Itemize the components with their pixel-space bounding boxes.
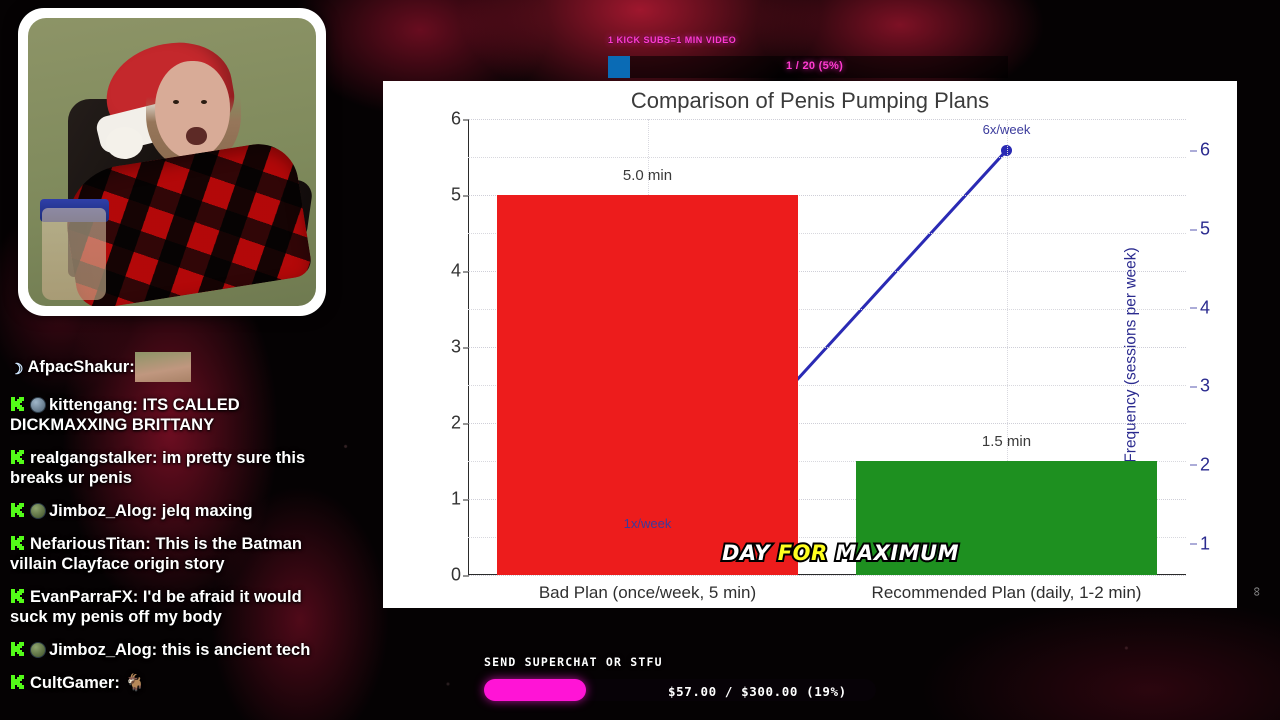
caption-word: FOR	[770, 541, 828, 565]
chat-message: Jimboz_Alog: jelq maxing	[10, 501, 340, 521]
chat-username[interactable]: NefariousTitan:	[30, 535, 151, 553]
eye-right-shape	[201, 100, 207, 104]
chat-message: EvanParraFX: I'd be afraid it would suck…	[10, 587, 340, 627]
kick-badge-icon	[10, 641, 26, 657]
watermark-icon: ∞	[1250, 587, 1265, 596]
santa-hat-pom-shape	[106, 127, 143, 159]
chart-panel: Comparison of Penis Pumping Plans Durati…	[383, 81, 1237, 608]
kick-badge-icon	[10, 535, 26, 551]
chat-message: realgangstalker: im pretty sure this bre…	[10, 448, 340, 488]
chat-text: this is ancient tech	[162, 641, 311, 659]
y-axis-right-tick: 6	[1200, 140, 1210, 161]
y-axis-right-tick: 1	[1200, 533, 1210, 554]
chat-username[interactable]: realgangstalker:	[30, 449, 157, 467]
caption-word: MAXIMUM	[828, 541, 959, 565]
webcam-video	[28, 18, 316, 306]
line-point-label: 1x/week	[624, 516, 672, 531]
sub-goal-progress-fill	[608, 56, 630, 78]
webcam-frame	[18, 8, 326, 316]
chat-username[interactable]: Jimboz_Alog:	[49, 502, 157, 520]
caption-overlay: DAY FOR MAXIMUM	[722, 541, 959, 565]
sub-goal-count: 1 / 20 (5%)	[786, 60, 843, 72]
grid-line	[468, 157, 1186, 158]
chat-username[interactable]: AfpacShakur:	[27, 358, 134, 376]
chat-message: CultGamer: 🐐	[10, 673, 340, 693]
sub-goal-title: 1 KICK SUBS=1 MIN VIDEO	[608, 35, 736, 45]
kick-badge-icon	[10, 588, 26, 604]
chat-username[interactable]: kittengang:	[49, 396, 138, 414]
bar-value-label: 1.5 min	[982, 433, 1031, 450]
superchat-progress-fill	[484, 679, 586, 701]
superchat-goal-title: SEND SUPERCHAT OR STFU	[484, 655, 1104, 669]
y-axis-right-tick: 3	[1200, 376, 1210, 397]
chat-message: kittengang: ITS CALLED DICKMAXXING BRITT…	[10, 395, 340, 435]
caption-word: DAY	[722, 541, 770, 565]
chat-text: jelq maxing	[162, 502, 253, 520]
bar-value-label: 5.0 min	[623, 167, 672, 184]
eye-left-shape	[173, 100, 179, 104]
superchat-goal-widget: SEND SUPERCHAT OR STFU $57.00 / $300.00 …	[484, 655, 1104, 710]
y-axis-right-tick: 4	[1200, 297, 1210, 318]
chat-panel[interactable]: ☽AfpacShakur:kittengang: ITS CALLED DICK…	[10, 352, 340, 712]
kick-badge-icon	[10, 674, 26, 690]
sub-goal-widget: 1 KICK SUBS=1 MIN VIDEO 1 / 20 (5%)	[483, 28, 1103, 80]
line-point-label: 6x/week	[983, 122, 1031, 137]
grid-line	[468, 119, 1186, 120]
y-axis-left-tick: 2	[451, 413, 461, 434]
subscriber-badge-icon	[30, 642, 46, 658]
kick-badge-icon	[10, 396, 26, 412]
grid-line	[468, 575, 1186, 576]
chat-message: ☽AfpacShakur:	[10, 352, 340, 382]
chat-username[interactable]: Jimboz_Alog:	[49, 641, 157, 659]
moon-badge-icon: ☽	[10, 360, 23, 380]
y-axis-left-tick: 0	[451, 565, 461, 586]
kick-badge-icon	[10, 449, 26, 465]
chat-text: 🐐	[124, 674, 145, 692]
chat-message: NefariousTitan: This is the Batman villa…	[10, 534, 340, 574]
y-axis-left-tick: 1	[451, 489, 461, 510]
plot-area: 01234561234565.0 minBad Plan (once/week,…	[468, 119, 1186, 575]
y-axis-left-tick: 5	[451, 185, 461, 206]
chat-username[interactable]: EvanParraFX:	[30, 588, 138, 606]
chat-username[interactable]: CultGamer:	[30, 674, 120, 692]
kick-badge-icon	[10, 502, 26, 518]
subscriber-badge-icon	[30, 397, 46, 413]
y-axis-left-tick: 6	[451, 109, 461, 130]
chat-inline-thumbnail	[135, 352, 191, 382]
subscriber-badge-icon	[30, 503, 46, 519]
jar-shape	[42, 208, 105, 300]
x-axis-tick-label: Recommended Plan (daily, 1-2 min)	[872, 583, 1142, 603]
x-axis-tick-label: Bad Plan (once/week, 5 min)	[539, 583, 756, 603]
mouth-shape	[186, 127, 206, 144]
y-axis-right-tick: 2	[1200, 454, 1210, 475]
chat-message: Jimboz_Alog: this is ancient tech	[10, 640, 340, 660]
chart-title: Comparison of Penis Pumping Plans	[383, 88, 1237, 114]
superchat-amount: $57.00 / $300.00 (19%)	[668, 684, 847, 699]
y-axis-left-tick: 3	[451, 337, 461, 358]
y-axis-right-tick: 5	[1200, 219, 1210, 240]
y-axis-left-tick: 4	[451, 261, 461, 282]
